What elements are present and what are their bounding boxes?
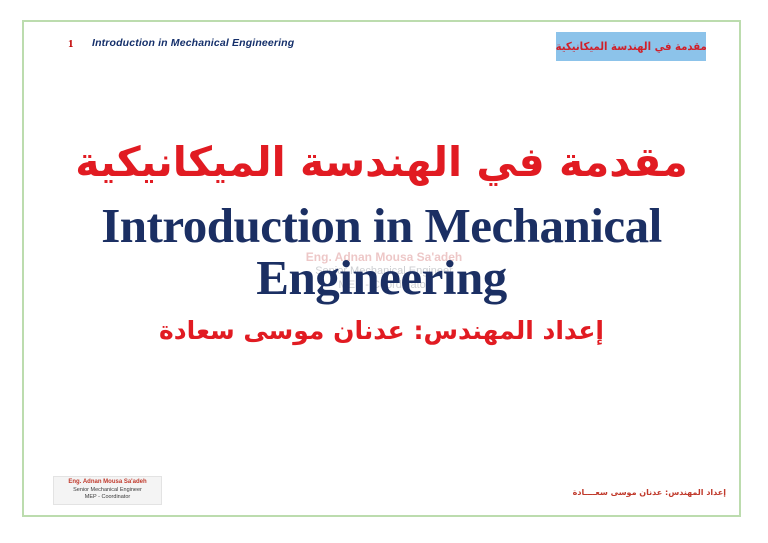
signature-role: Senior Mechanical Engineer (57, 487, 158, 494)
main-title-english-line1: Introduction in Mechanical (22, 200, 741, 252)
header-title: Introduction in Mechanical Engineering (92, 38, 294, 49)
main-title-english-line2: Engineering (22, 252, 741, 304)
signature-name: Eng. Adnan Mousa Sa'adeh (57, 479, 158, 487)
signature-department: MEP - Coordinator (57, 494, 158, 501)
course-logo-arabic-text: مقدمة في الهندسة الميكانيكية (555, 41, 706, 52)
author-signature-card: Eng. Adnan Mousa Sa'adeh Senior Mechanic… (53, 476, 162, 505)
presentation-slide: 1 Introduction in Mechanical Engineering… (0, 0, 768, 543)
course-logo-plate: مقدمة في الهندسة الميكانيكية (556, 32, 706, 61)
footer-arabic-credit: إعداد المهندس: عدنان موسى سعــــادة (573, 489, 726, 497)
slide-number: 1 (68, 39, 74, 50)
main-title-arabic: مقدمة في الهندسة الميكانيكية (22, 140, 741, 186)
slide-header: 1 Introduction in Mechanical Engineering… (22, 20, 741, 78)
main-title-english: Introduction in Mechanical Engineering (22, 200, 741, 305)
subtitle-arabic-author: إعداد المهندس: عدنان موسى سعادة (22, 317, 741, 346)
title-block: مقدمة في الهندسة الميكانيكية Introductio… (22, 140, 741, 346)
